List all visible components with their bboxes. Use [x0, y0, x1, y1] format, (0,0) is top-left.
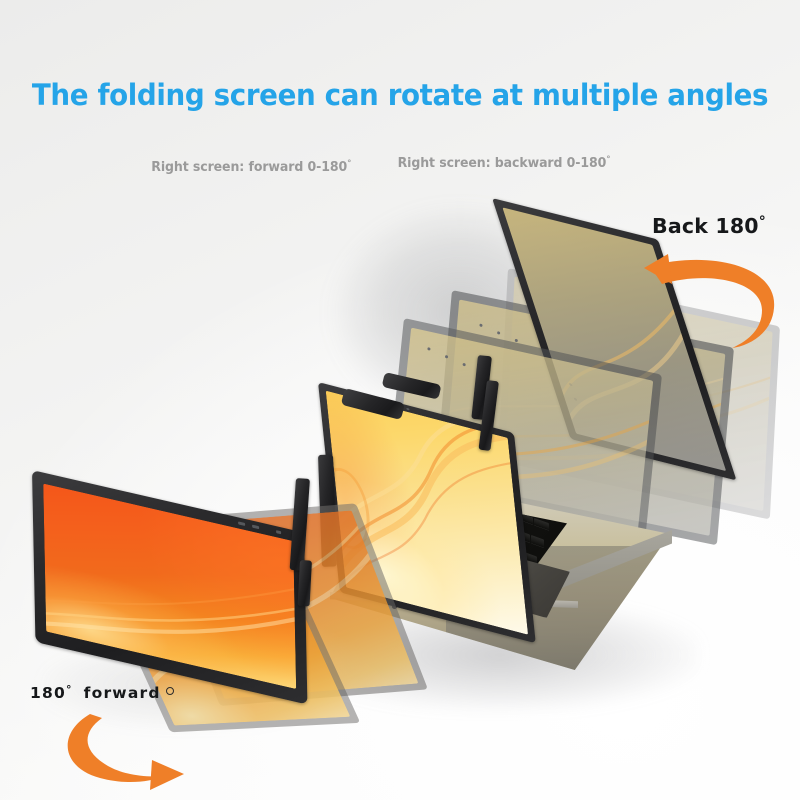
degree-symbol: ° [66, 683, 73, 696]
back-angle-text: Back 180 [652, 214, 759, 238]
caption-backward-text: Right screen: backward 0-180 [398, 156, 607, 171]
caption-forward-text: Right screen: forward 0-180 [151, 160, 347, 175]
bezel-screw [427, 347, 430, 351]
bezel-screw [445, 355, 448, 359]
left-hinge-bracket [298, 560, 312, 607]
forward-angle-label: 180°forward [30, 683, 161, 702]
device-scene [0, 0, 800, 800]
degree-symbol: ° [759, 214, 766, 230]
forward-angle-word: forward [84, 684, 161, 702]
degree-symbol: ° [606, 155, 610, 165]
bezel-screw [479, 324, 482, 328]
bezel-screw [497, 331, 500, 335]
page-title: The folding screen can rotate at multipl… [24, 78, 776, 112]
product-illustration: The folding screen can rotate at multipl… [0, 0, 800, 800]
degree-circle-marker [166, 687, 174, 695]
caption-forward: Right screen: forward 0-180° [151, 159, 351, 175]
back-angle-label: Back 180° [652, 214, 766, 238]
caption-backward: Right screen: backward 0-180° [398, 155, 611, 171]
degree-symbol: ° [347, 159, 351, 169]
forward-angle-text: 180 [30, 684, 66, 702]
bezel-screw [463, 363, 466, 367]
